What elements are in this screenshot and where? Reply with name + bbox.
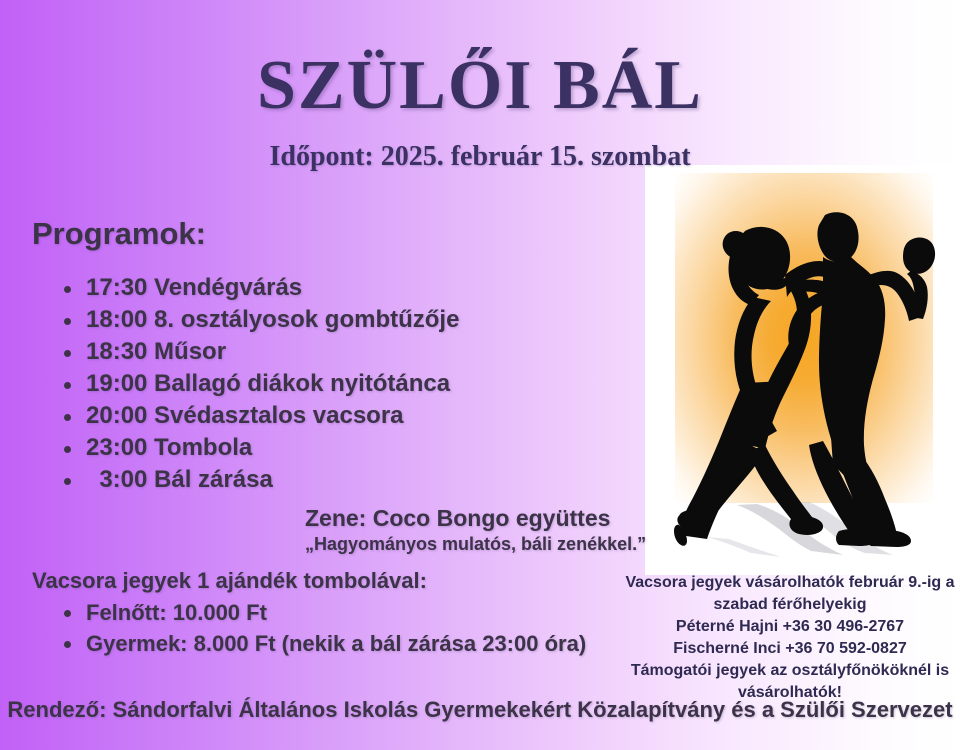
organizer-footer: Rendező: Sándorfalvi Általános Iskolás G… <box>0 697 960 723</box>
contact-line: Vacsora jegyek vásárolhatók február 9.-i… <box>625 572 955 594</box>
band-name: Zene: Coco Bongo együttes <box>305 505 610 532</box>
poster-title: SZÜLŐI BÁL <box>0 46 960 126</box>
contact-line: Péterné Hajni +36 30 496-2767 <box>625 616 955 638</box>
list-item: 3:00 Bál zárása <box>86 464 459 496</box>
list-item: 18:30 Műsor <box>86 336 459 368</box>
ticket-price-list: Felnőtt: 10.000 Ft Gyermek: 8.000 Ft (ne… <box>44 597 586 659</box>
list-item: 23:00 Tombola <box>86 432 459 464</box>
band-quote: „Hagyományos mulatós, báli zenékkel.” <box>305 534 646 555</box>
poster-canvas: SZÜLŐI BÁL Időpont: 2025. február 15. sz… <box>0 0 960 750</box>
poster-date-subtitle: Időpont: 2025. február 15. szombat <box>0 141 960 173</box>
contact-line: szabad férőhelyekig <box>625 594 955 616</box>
list-item: 20:00 Svédasztalos vacsora <box>86 400 459 432</box>
list-item: Felnőtt: 10.000 Ft <box>86 597 586 628</box>
contact-line: Támogatói jegyek az osztályfőnököknél is <box>625 660 955 682</box>
dancing-couple-artwork <box>645 165 960 575</box>
programs-heading: Programok: <box>32 216 206 252</box>
list-item: 19:00 Ballagó diákok nyitótánca <box>86 368 459 400</box>
list-item: 18:00 8. osztályosok gombtűzője <box>86 304 459 336</box>
list-item: 17:30 Vendégvárás <box>86 272 459 304</box>
dancing-couple-silhouette-icon <box>673 187 943 557</box>
programs-list: 17:30 Vendégvárás 18:00 8. osztályosok g… <box>44 272 459 496</box>
list-item: Gyermek: 8.000 Ft (nekik a bál zárása 23… <box>86 628 586 659</box>
contact-line: Fischerné Inci +36 70 592-0827 <box>625 638 955 660</box>
contact-info-block: Vacsora jegyek vásárolhatók február 9.-i… <box>625 572 955 704</box>
tickets-heading: Vacsora jegyek 1 ajándék tombolával: <box>32 568 427 594</box>
